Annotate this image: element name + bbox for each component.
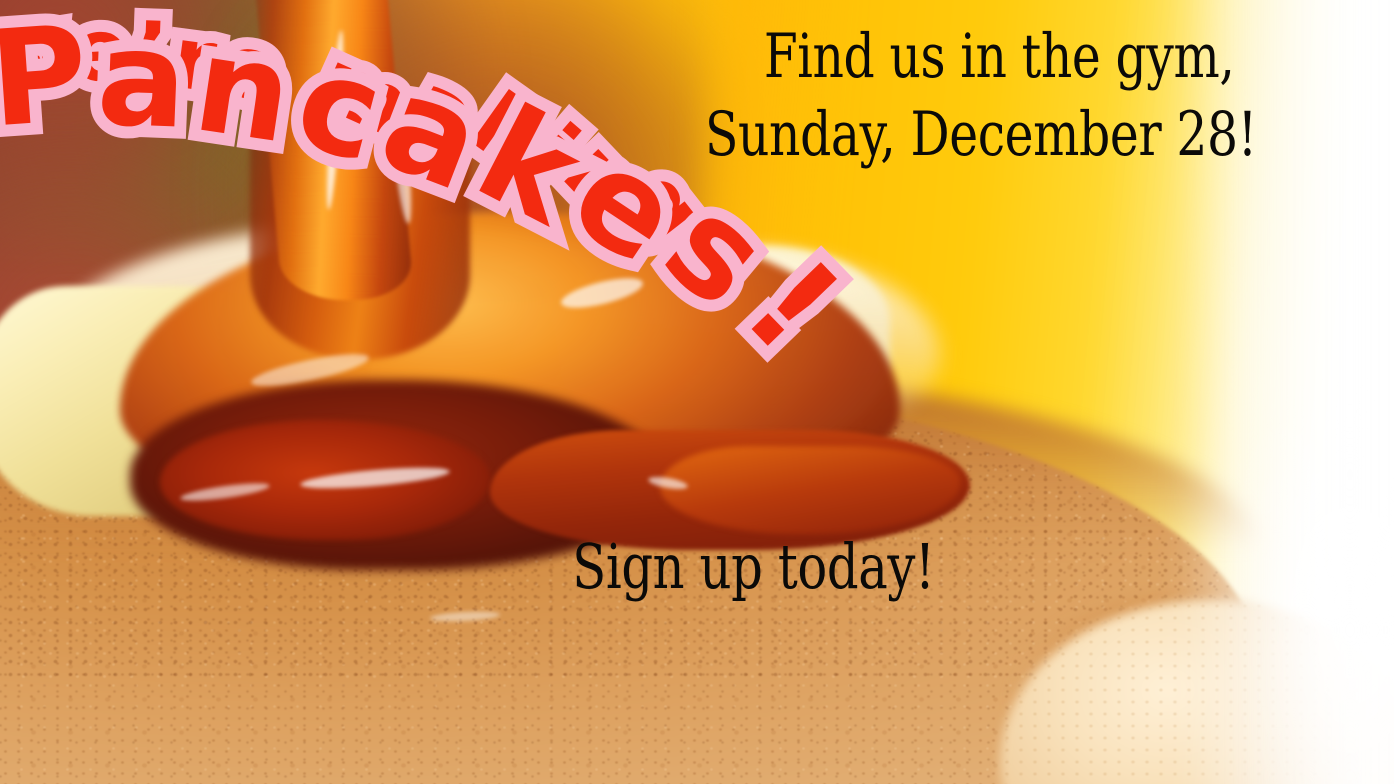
signup-call-to-action: Sign up today! <box>572 536 934 598</box>
wordmark-letter: a <box>94 1 184 158</box>
wordmark-pancakes-fill: Pancakes! <box>0 0 718 154</box>
photo-white-glow-lower-right <box>1270 420 1394 784</box>
wordmark-letter: P <box>0 0 87 157</box>
event-headline-line-1: Find us in the gym, <box>764 26 1235 87</box>
event-headline-line-2: Sunday, December 28! <box>705 104 1257 165</box>
pancake-flyer-poster: Find us in the gym, Sunday, December 28!… <box>0 0 1394 784</box>
wordmark-letter: n <box>185 7 296 172</box>
